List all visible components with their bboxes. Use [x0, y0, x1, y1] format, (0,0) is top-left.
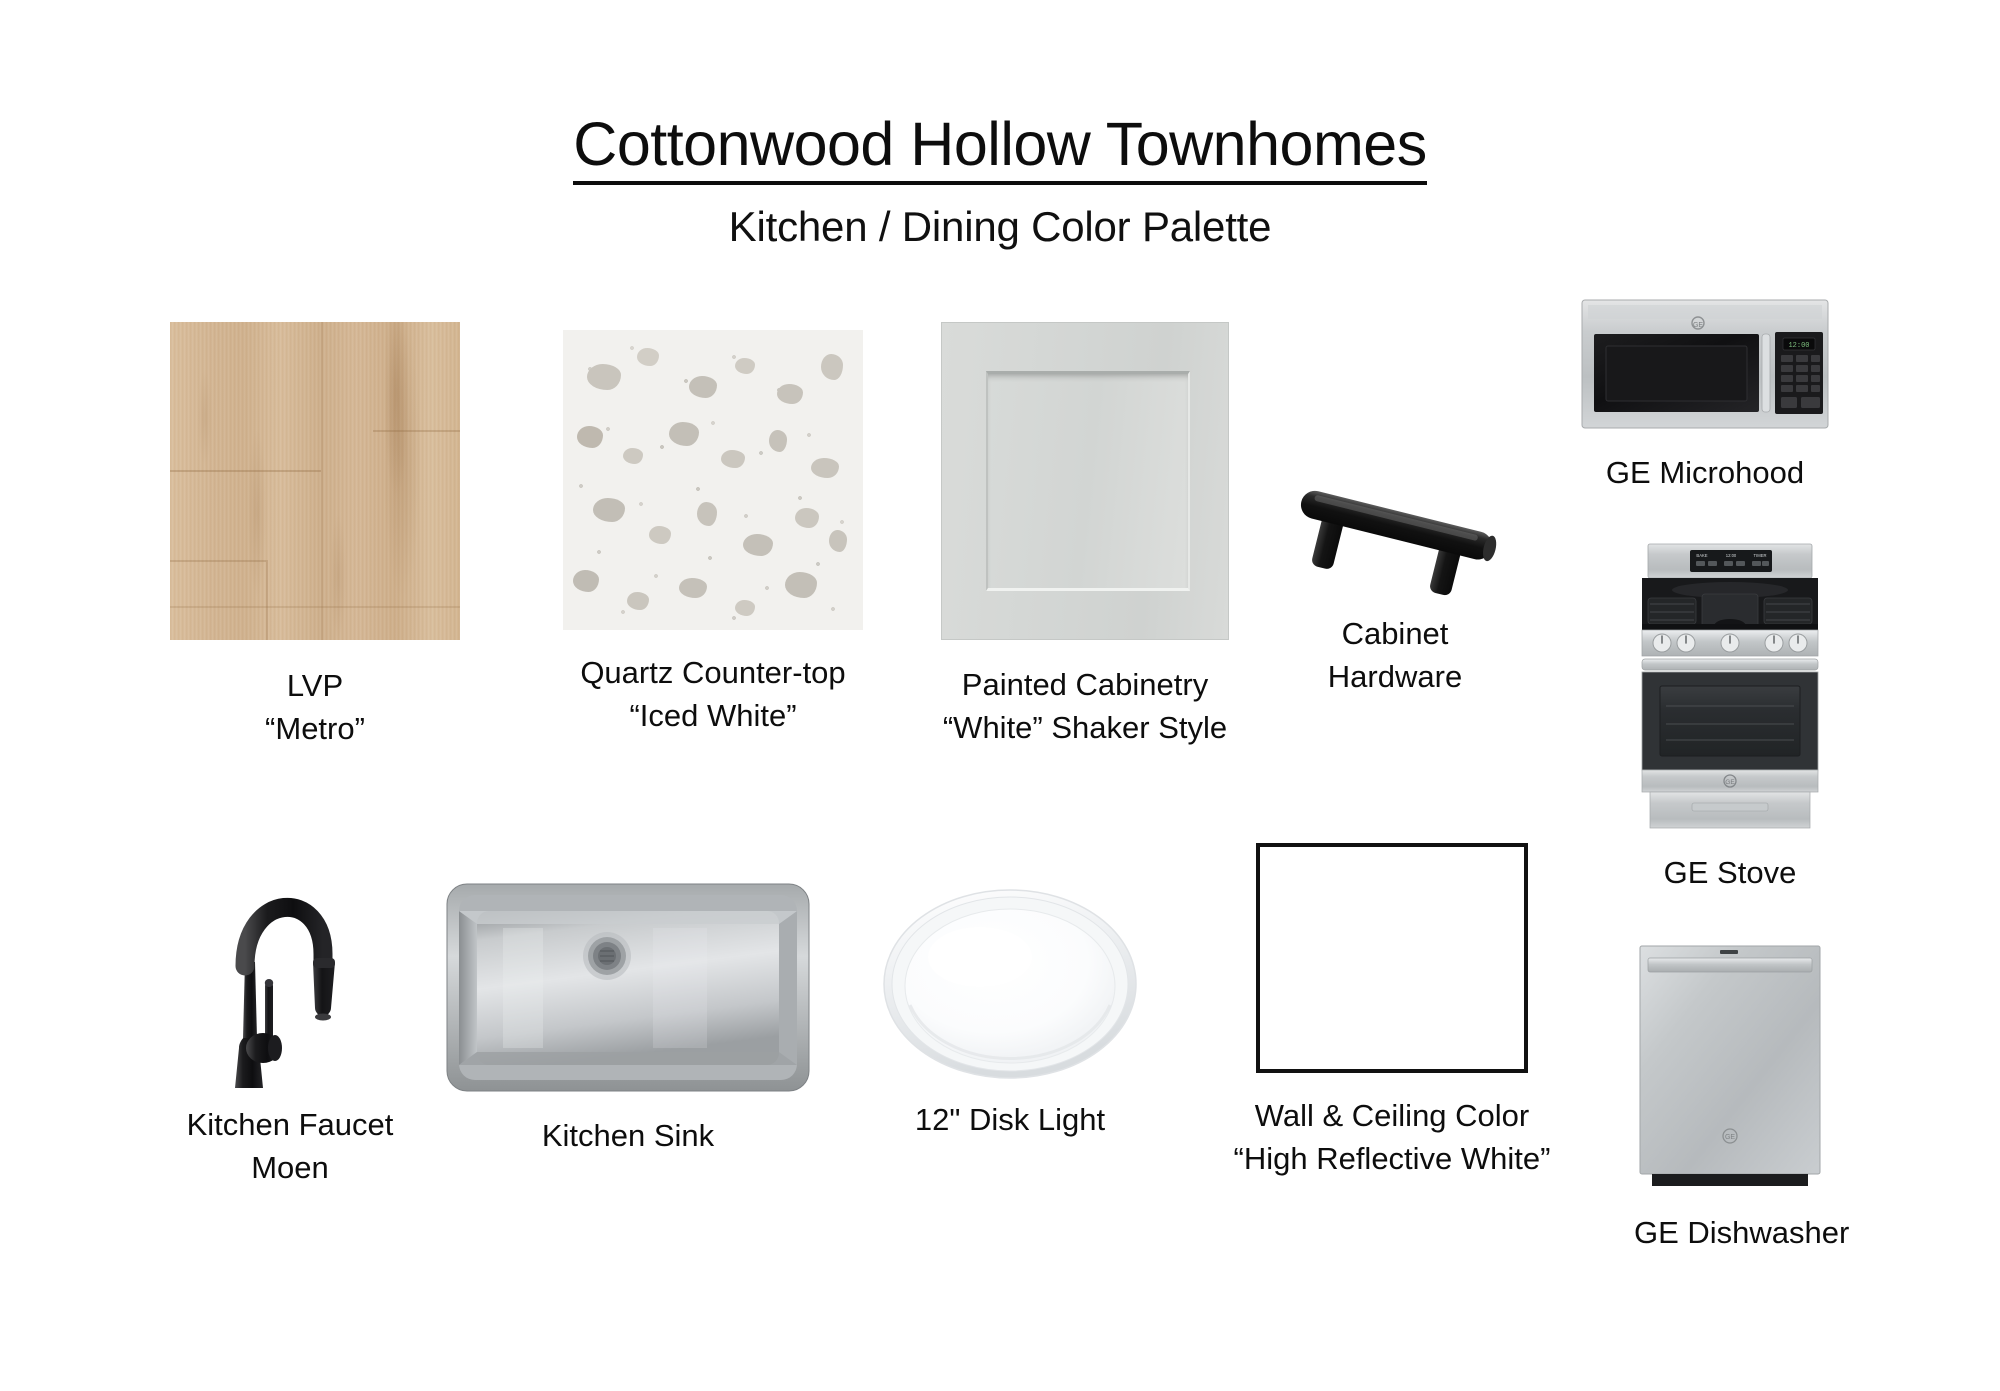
quartz-fleck [669, 422, 699, 446]
faucet-caption: Kitchen Faucet Moen [179, 1104, 401, 1190]
quartz-fleck [593, 498, 625, 522]
microhood-label-line1: GE Microhood [1606, 455, 1804, 490]
quartz-fleck [811, 458, 839, 478]
lvp-caption: LVP “Metro” [170, 665, 460, 751]
kitchen-faucet-image [205, 842, 375, 1092]
quartz-fleck [721, 450, 745, 468]
ge-stove-image: BAKE 12:00 TIMER [1634, 542, 1826, 830]
svg-text:BAKE: BAKE [1696, 553, 1707, 558]
quartz-fleck [637, 348, 659, 366]
plank-seam [170, 606, 460, 608]
plank-seam [266, 560, 268, 640]
item-cabinetry[interactable]: Painted Cabinetry “White” Shaker Style [941, 322, 1229, 750]
item-hardware[interactable]: Cabinet Hardware [1275, 455, 1515, 699]
page-title: Cottonwood Hollow Townhomes [573, 112, 1426, 185]
quartz-fleck [777, 384, 803, 404]
stove-caption: GE Stove [1634, 852, 1826, 895]
quartz-fleck [679, 578, 707, 598]
wood-grain-texture [170, 322, 460, 640]
disk-light-image [880, 885, 1140, 1083]
kitchen-sink-image [443, 880, 813, 1095]
paint-color-chip [1256, 843, 1528, 1073]
item-sink[interactable]: Kitchen Sink [443, 880, 813, 1158]
lvp-label-line2: “Metro” [170, 708, 460, 751]
microhood-caption: GE Microhood [1580, 452, 1830, 495]
board-header: Cottonwood Hollow Townhomes Kitchen / Di… [0, 112, 2000, 251]
quartz-fleck [769, 430, 787, 452]
quartz-fleck [689, 376, 717, 398]
svg-text:12:00: 12:00 [1788, 342, 1809, 350]
item-wallcolor[interactable]: Wall & Ceiling Color “High Reflective Wh… [1256, 843, 1568, 1181]
sink-icon [443, 880, 813, 1095]
wallcolor-label-line1: Wall & Ceiling Color [1255, 1098, 1530, 1133]
quartz-label-line2: “Iced White” [563, 695, 863, 738]
lvp-label-line1: LVP [287, 668, 343, 703]
quartz-fleck [697, 502, 717, 526]
quartz-fleck [795, 508, 819, 528]
item-faucet[interactable]: Kitchen Faucet Moen [205, 842, 401, 1190]
quartz-fleck [577, 426, 603, 448]
item-stove[interactable]: BAKE 12:00 TIMER [1634, 542, 1826, 895]
page-subtitle: Kitchen / Dining Color Palette [0, 203, 2000, 251]
quartz-fleck [649, 526, 671, 544]
svg-text:GE: GE [1725, 779, 1735, 786]
quartz-fleck [743, 534, 773, 556]
plank-seam [170, 470, 321, 472]
cabinet-recessed-panel [986, 371, 1190, 591]
quartz-fleck [785, 572, 817, 598]
quartz-fleck [735, 600, 755, 616]
plank-seam [321, 322, 323, 640]
design-board: Cottonwood Hollow Townhomes Kitchen / Di… [0, 0, 2000, 1391]
faucet-icon [205, 842, 375, 1092]
range-icon: BAKE 12:00 TIMER [1634, 542, 1826, 830]
sink-caption: Kitchen Sink [443, 1115, 813, 1158]
plank-seam [373, 430, 460, 432]
quartz-fleck [829, 530, 847, 552]
faucet-label-line1: Kitchen Faucet [187, 1107, 394, 1142]
quartz-caption: Quartz Counter-top “Iced White” [563, 652, 863, 738]
dishwasher-label-line1: GE Dishwasher [1634, 1215, 1849, 1250]
item-lvp[interactable]: LVP “Metro” [170, 322, 460, 751]
quartz-fleck [587, 364, 621, 390]
dishwasher-icon: GE [1634, 940, 1826, 1190]
shaker-cabinet-door [941, 322, 1229, 640]
svg-text:GE: GE [1693, 322, 1703, 329]
item-quartz[interactable]: Quartz Counter-top “Iced White” [563, 330, 863, 738]
item-dishwasher[interactable]: GE GE Dishwasher [1634, 940, 1826, 1255]
bar-pull-hardware [1275, 455, 1515, 605]
quartz-fleck [623, 448, 643, 464]
ge-dishwasher-image: GE [1634, 940, 1826, 1190]
quartz-fleck [627, 592, 649, 610]
svg-text:GE: GE [1725, 1134, 1735, 1141]
disklight-label-line1: 12" Disk Light [915, 1102, 1105, 1137]
lvp-swatch [170, 322, 460, 640]
quartz-fleck [573, 570, 599, 592]
sink-label-line1: Kitchen Sink [542, 1118, 714, 1153]
wallcolor-caption: Wall & Ceiling Color “High Reflective Wh… [1216, 1095, 1568, 1181]
dishwasher-caption: GE Dishwasher [1634, 1212, 1826, 1255]
bar-pull-icon [1275, 455, 1515, 605]
stove-label-line1: GE Stove [1664, 855, 1797, 890]
plank-seam [170, 560, 266, 562]
quartz-fleck [821, 354, 843, 380]
ge-microhood-image: GE 12:00 [1580, 298, 1830, 430]
microwave-icon: GE 12:00 [1580, 298, 1830, 430]
disk-light-icon [880, 885, 1140, 1083]
item-microhood[interactable]: GE 12:00 GE Microhood [1580, 298, 1830, 495]
hardware-caption: Cabinet Hardware [1275, 613, 1515, 699]
quartz-swatch [563, 330, 863, 630]
svg-text:TIMER: TIMER [1753, 553, 1766, 558]
cabinetry-label-line2: “White” Shaker Style [941, 707, 1229, 750]
quartz-fleck [735, 358, 755, 374]
cabinetry-caption: Painted Cabinetry “White” Shaker Style [941, 664, 1229, 750]
faucet-label-line2: Moen [179, 1147, 401, 1190]
svg-text:12:00: 12:00 [1726, 553, 1737, 558]
cabinetry-label-line1: Painted Cabinetry [962, 667, 1208, 702]
wallcolor-label-line2: “High Reflective White” [1216, 1138, 1568, 1181]
disklight-caption: 12" Disk Light [880, 1099, 1140, 1142]
hardware-label-line1: Cabinet [1342, 616, 1449, 651]
quartz-label-line1: Quartz Counter-top [580, 655, 845, 690]
hardware-label-line2: Hardware [1275, 656, 1515, 699]
item-disklight[interactable]: 12" Disk Light [880, 885, 1140, 1142]
